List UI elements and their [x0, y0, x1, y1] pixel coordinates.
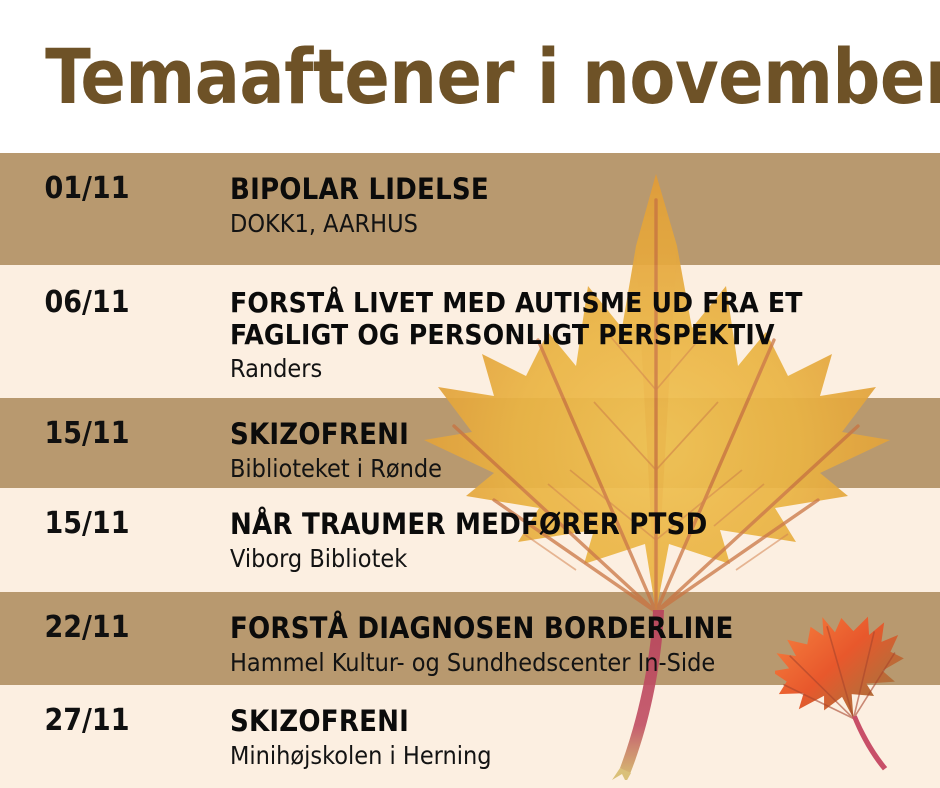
event-body: SKIZOFRENIBiblioteket i Rønde: [166, 418, 940, 484]
event-title: NÅR TRAUMER MEDFØRER PTSD: [230, 508, 940, 541]
event-date: 01/11: [0, 173, 166, 205]
title-bar: Temaaftener i november: [0, 0, 940, 153]
event-title-line2: FAGLIGT OG PERSONLIGT PERSPEKTIV: [230, 319, 940, 351]
event-row[interactable]: 15/11SKIZOFRENIBiblioteket i Rønde: [0, 418, 940, 484]
event-body: BIPOLAR LIDELSEDOKK1, AARHUS: [166, 173, 940, 239]
event-date: 27/11: [0, 705, 166, 737]
event-row[interactable]: 15/11NÅR TRAUMER MEDFØRER PTSDViborg Bib…: [0, 508, 940, 574]
event-body: SKIZOFRENIMinihøjskolen i Herning: [166, 705, 940, 771]
event-row[interactable]: 06/11FORSTÅ LIVET MED AUTISME UD FRA ETF…: [0, 287, 940, 384]
event-venue: Viborg Bibliotek: [230, 544, 940, 574]
event-title: SKIZOFRENI: [230, 418, 940, 451]
event-title: FORSTÅ DIAGNOSEN BORDERLINE: [230, 612, 940, 645]
event-row[interactable]: 27/11SKIZOFRENIMinihøjskolen i Herning: [0, 705, 940, 771]
event-title: SKIZOFRENI: [230, 705, 940, 738]
event-body: FORSTÅ LIVET MED AUTISME UD FRA ETFAGLIG…: [166, 287, 940, 384]
event-date: 22/11: [0, 612, 166, 644]
event-date: 15/11: [0, 508, 166, 540]
event-row[interactable]: 22/11FORSTÅ DIAGNOSEN BORDERLINEHammel K…: [0, 612, 940, 678]
event-venue: Minihøjskolen i Herning: [230, 741, 940, 771]
event-date: 15/11: [0, 418, 166, 450]
event-venue: Randers: [230, 354, 940, 384]
event-body: NÅR TRAUMER MEDFØRER PTSDViborg Bibliote…: [166, 508, 940, 574]
event-body: FORSTÅ DIAGNOSEN BORDERLINEHammel Kultur…: [166, 612, 940, 678]
poster-canvas: Temaaftener i november 01/11BIPOLAR LIDE…: [0, 0, 940, 788]
event-title: FORSTÅ LIVET MED AUTISME UD FRA ET: [230, 287, 940, 319]
event-row[interactable]: 01/11BIPOLAR LIDELSEDOKK1, AARHUS: [0, 173, 940, 239]
event-venue: Biblioteket i Rønde: [230, 454, 940, 484]
page-title: Temaaftener i november: [0, 39, 940, 115]
event-date: 06/11: [0, 287, 166, 319]
event-venue: DOKK1, AARHUS: [230, 209, 940, 239]
event-venue: Hammel Kultur- og Sundhedscenter In-Side: [230, 648, 940, 678]
event-title: BIPOLAR LIDELSE: [230, 173, 940, 206]
